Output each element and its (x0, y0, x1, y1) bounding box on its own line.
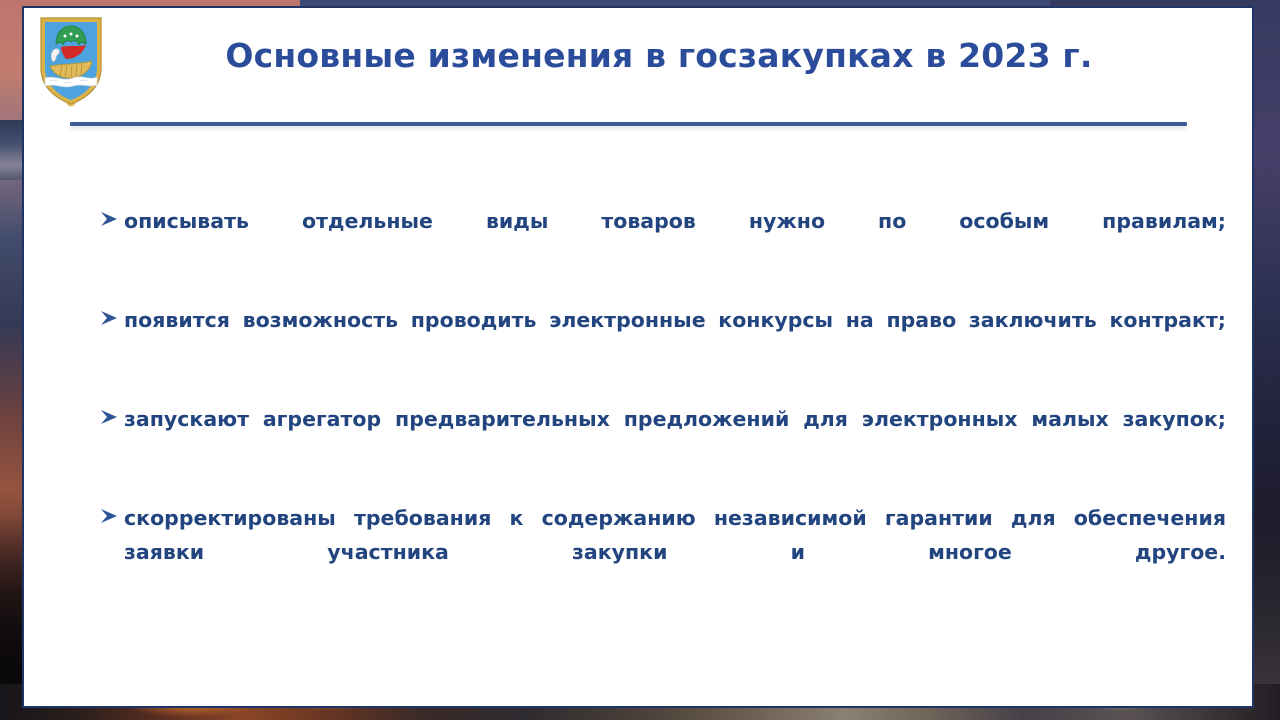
page-title: Основные изменения в госзакупках в 2023 … (114, 34, 1204, 78)
title-divider (70, 122, 1187, 126)
list-item-text: запускают агрегатор предварительных пред… (124, 402, 1226, 470)
list-item-text: скорректированы требования к содержанию … (124, 501, 1226, 603)
coat-of-arms-icon (36, 14, 106, 110)
arrowhead-bullet-icon (97, 405, 121, 429)
list-item: запускают агрегатор предварительных пред… (76, 402, 1226, 470)
bullet-list: описывать отдельные виды товаров нужно п… (76, 204, 1226, 603)
arrowhead-bullet-icon (97, 207, 121, 231)
list-item: появится возможность проводить электронн… (76, 303, 1226, 371)
slide-content-panel: Основные изменения в госзакупках в 2023 … (22, 6, 1254, 708)
arrowhead-bullet-icon (97, 504, 121, 528)
list-item: скорректированы требования к содержанию … (76, 501, 1226, 603)
list-item: описывать отдельные виды товаров нужно п… (76, 204, 1226, 272)
slide-header: Основные изменения в госзакупках в 2023 … (24, 8, 1256, 128)
list-item-text: описывать отдельные виды товаров нужно п… (124, 204, 1226, 272)
list-item-text: появится возможность проводить электронн… (124, 303, 1226, 371)
arrowhead-bullet-icon (97, 306, 121, 330)
